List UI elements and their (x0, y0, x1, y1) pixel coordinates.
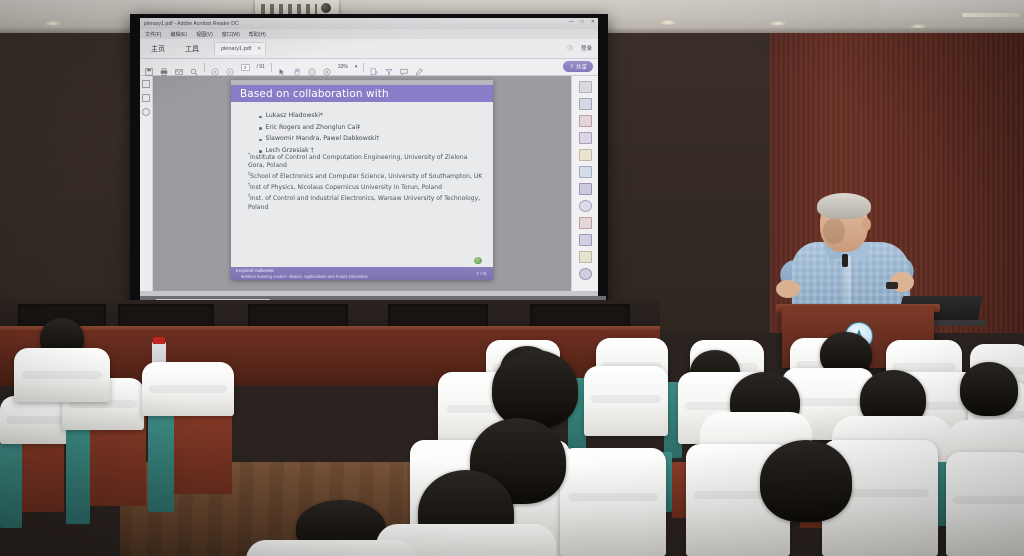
window-title-bar: plenary1.pdf - Adobe Acrobat Reader DC —… (140, 18, 598, 29)
document-area: Based on collaboration with Lukasz Hlado… (140, 76, 598, 291)
affiliation-text: Inst of Physics, Nicolaus Copernicus Uni… (250, 184, 442, 191)
bullet-text: Lukasz Hladowski* (266, 112, 324, 119)
window-controls[interactable]: — □ ✕ (569, 20, 595, 25)
stamp-icon[interactable] (579, 200, 592, 212)
affiliation-line: *Institute of Control and Computation En… (248, 152, 484, 171)
bullet-text: Slawomir Mandra, Pawel Dabkowski† (266, 135, 380, 142)
tab-document-label: plenary1.pdf (221, 46, 251, 52)
menu-item-view[interactable]: 视图(V) (196, 31, 213, 38)
water-bottle-cap (153, 337, 165, 344)
chair-side-teal (0, 436, 22, 528)
logo-glyph (474, 257, 482, 264)
fill-and-sign-icon[interactable] (579, 166, 592, 178)
tab-document[interactable]: plenary1.pdf ✕ (214, 42, 266, 55)
affiliation-line: †Inst of Physics, Nicolaus Copernicus Un… (248, 182, 484, 192)
organize-pages-icon[interactable] (579, 251, 592, 263)
affiliation-line: †Inst. of Control and Industrial Electro… (248, 193, 484, 212)
send-for-signature-icon[interactable] (579, 183, 592, 195)
toolbar-separator (271, 63, 272, 72)
highlight-icon[interactable] (415, 63, 423, 71)
ceiling-soffit (880, 0, 1024, 22)
previous-page-icon[interactable] (211, 63, 219, 71)
rotate-page-icon[interactable] (385, 63, 393, 71)
page-total-label: / 91 (257, 64, 265, 70)
fit-page-icon[interactable] (370, 63, 378, 71)
menu-item-edit[interactable]: 编辑(E) (170, 31, 187, 38)
hand-tool-icon[interactable] (293, 63, 301, 71)
slide-affiliations: *Institute of Control and Computation En… (248, 152, 484, 213)
list-item: Lukasz Hladowski* (259, 112, 479, 119)
attachments-icon[interactable] (142, 108, 150, 116)
acrobat-window[interactable]: plenary1.pdf - Adobe Acrobat Reader DC —… (140, 18, 598, 296)
comment-icon[interactable] (400, 63, 408, 71)
desk-panel (118, 304, 214, 328)
menu-bar[interactable]: 文件(F) 编辑(E) 视图(V) 窗口(W) 帮助(H) (140, 29, 598, 39)
bullet-dot-icon (259, 116, 262, 119)
list-item: Eric Rogers and Zhonglun Cai‡ (259, 124, 479, 131)
comment-icon[interactable] (579, 149, 592, 161)
slide-footer: Krzysztof Galkowski Iterative learning c… (231, 267, 493, 280)
bullet-dot-icon (259, 127, 262, 130)
chair-cover (560, 448, 666, 556)
combine-files-icon[interactable] (579, 132, 592, 144)
help-circle-icon[interactable]: ⓘ (567, 44, 573, 52)
hair (817, 193, 871, 219)
chair-cover (946, 452, 1024, 556)
downlight (45, 21, 61, 26)
institution-logo (469, 255, 486, 266)
signin-button[interactable]: 登录 (581, 44, 592, 52)
tab-bar[interactable]: 主页 工具 plenary1.pdf ✕ ⓘ 登录 (140, 39, 598, 59)
projector-lens-icon (321, 3, 331, 13)
affiliation-text: School of Electronics and Computer Scien… (250, 173, 482, 180)
chair-cover (14, 348, 110, 402)
chevron-down-icon[interactable]: ▾ (355, 64, 358, 70)
tab-tools[interactable]: 工具 (180, 42, 204, 56)
pdf-viewport[interactable]: Based on collaboration with Lukasz Hlado… (153, 76, 571, 291)
zoom-level-label[interactable]: 33% (338, 64, 348, 70)
lecture-hall-photo: plenary1.pdf - Adobe Acrobat Reader DC —… (0, 0, 1024, 556)
tab-home[interactable]: 主页 (146, 42, 170, 56)
toolbar-separator (204, 63, 205, 72)
toolbar-view-group[interactable]: 33% ▾ (278, 63, 358, 71)
create-pdf-icon[interactable] (579, 98, 592, 110)
face-shading (823, 218, 845, 244)
audience-head (760, 440, 852, 522)
audience-head (960, 362, 1018, 416)
ear (862, 218, 871, 231)
downlight (770, 21, 786, 26)
audience-head (492, 350, 578, 428)
slide-title-bar: Based on collaboration with (231, 85, 493, 102)
zoom-in-icon[interactable] (323, 63, 331, 71)
toolbar-page-group[interactable]: 2 / 91 (211, 63, 265, 71)
desk-panel (530, 304, 630, 328)
share-icon: ⇪ (569, 64, 574, 70)
bullet-text: Eric Rogers and Zhonglun Cai‡ (266, 124, 361, 131)
chair-cover (584, 366, 668, 436)
window-title: plenary1.pdf - Adobe Acrobat Reader DC (144, 21, 239, 27)
page-thumbnails-icon[interactable] (142, 80, 150, 88)
toolbar-file-group[interactable] (145, 63, 198, 71)
audience-shoulders (246, 540, 416, 556)
slide-subtitle: Iterative learning control - Basics, App… (241, 274, 368, 279)
affiliation-text: Inst. of Control and Industrial Electron… (248, 195, 480, 210)
tools-pane[interactable] (571, 76, 598, 291)
edit-pdf-icon[interactable] (579, 115, 592, 127)
slide-title: Based on collaboration with (231, 88, 389, 100)
slide-author: Krzysztof Galkowski (236, 268, 273, 273)
desk-panel (388, 304, 488, 328)
affiliation-line: ‡School of Electronics and Computer Scie… (248, 171, 484, 181)
affiliation-text: Institute of Control and Computation Eng… (248, 154, 467, 169)
close-icon[interactable]: ✕ (591, 20, 595, 25)
maximize-icon[interactable]: □ (581, 20, 584, 25)
email-icon[interactable] (175, 63, 183, 71)
export-pdf-icon[interactable] (579, 81, 592, 93)
next-page-icon[interactable] (226, 63, 234, 71)
toolbar-layout-group[interactable] (370, 63, 423, 71)
list-item: Slawomir Mandra, Pawel Dabkowski† (259, 135, 479, 142)
protect-icon[interactable] (579, 234, 592, 246)
chair-side-teal (148, 412, 174, 512)
menu-item-window[interactable]: 窗口(W) (222, 31, 240, 38)
print-icon[interactable] (160, 63, 168, 71)
toolbar[interactable]: 2 / 91 33% ▾ (140, 59, 598, 76)
bullet-dot-icon (259, 139, 262, 142)
tab-bar-right[interactable]: ⓘ 登录 (567, 44, 592, 52)
chair-cover (0, 396, 70, 444)
ceiling-strip-light (962, 13, 1020, 17)
share-label: 共享 (576, 63, 587, 71)
page-number-input[interactable]: 2 (241, 64, 250, 71)
bookmarks-icon[interactable] (142, 94, 150, 102)
close-tab-icon[interactable]: ✕ (257, 46, 261, 52)
pdf-slide: Based on collaboration with Lukasz Hlado… (231, 80, 493, 280)
measure-icon[interactable] (579, 217, 592, 229)
save-icon[interactable] (145, 63, 153, 71)
chair-side-teal (66, 424, 90, 524)
menu-item-help[interactable]: 帮助(H) (249, 31, 266, 38)
wristwatch (886, 282, 898, 289)
zoom-out-icon[interactable] (308, 63, 316, 71)
slide-page-count: 2 / 91 (477, 271, 487, 276)
select-tool-icon[interactable] (278, 63, 286, 71)
chair-cover (142, 362, 234, 416)
left-hand (776, 280, 800, 298)
share-button[interactable]: ⇪ 共享 (563, 61, 593, 72)
menu-item-file[interactable]: 文件(F) (145, 31, 161, 38)
navigation-pane[interactable] (140, 76, 153, 291)
lapel-microphone (842, 254, 848, 267)
more-tools-icon[interactable] (579, 268, 592, 280)
downlight (660, 20, 676, 25)
desk-panel (248, 304, 348, 328)
minimize-icon[interactable]: — (569, 20, 574, 25)
search-icon[interactable] (190, 63, 198, 71)
toolbar-separator (363, 63, 364, 72)
